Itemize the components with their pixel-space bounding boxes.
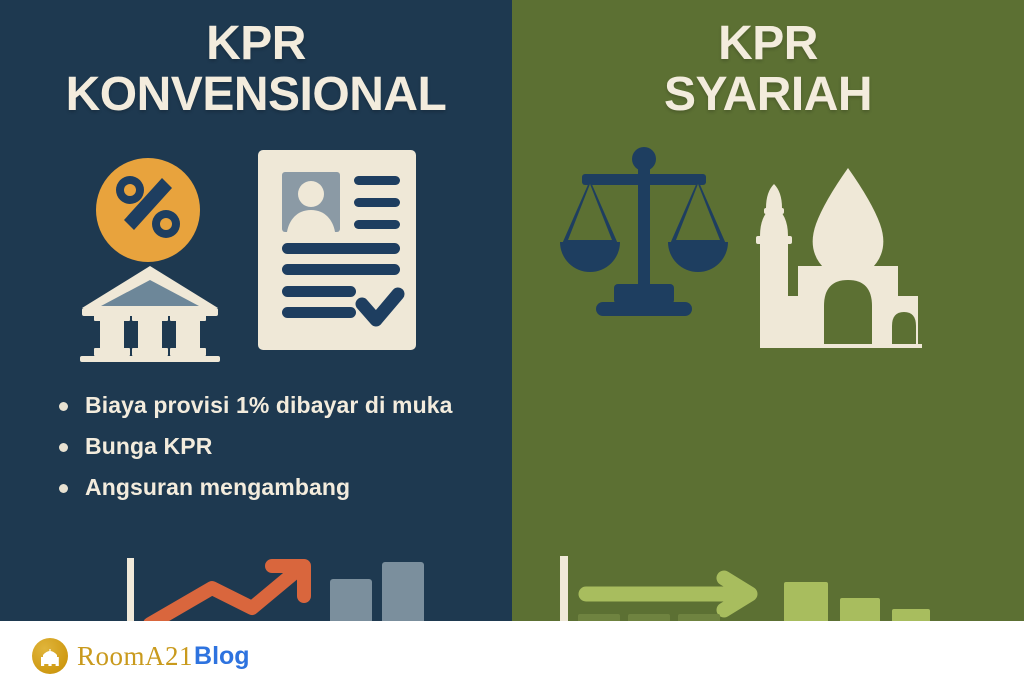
left-bullet-list: Biaya provisi 1% dibayar di muka Bunga K… xyxy=(52,392,474,515)
mosque-icon xyxy=(742,140,922,348)
left-growth-chart xyxy=(0,546,512,621)
left-title-line-1: KPR xyxy=(0,20,512,67)
bullet-dot-icon xyxy=(59,443,68,452)
bullet-dot-icon xyxy=(59,484,68,493)
percent-badge-icon xyxy=(96,158,200,262)
panel-kpr-syariah: KPR SYARIAH xyxy=(512,0,1024,621)
list-item-label: Biaya provisi 1% dibayar di muka xyxy=(85,392,453,418)
document-profile-icon xyxy=(258,150,416,350)
left-title-line-2: KONVENSIONAL xyxy=(0,71,512,118)
list-item: Biaya provisi 1% dibayar di muka xyxy=(52,392,474,419)
left-panel-title: KPR KONVENSIONAL xyxy=(0,20,512,118)
bank-icon xyxy=(80,264,220,362)
scales-of-justice-icon xyxy=(556,144,732,342)
right-title-line-1: KPR xyxy=(512,20,1024,67)
list-item-label: Bunga KPR xyxy=(85,433,212,459)
list-item: Bunga KPR xyxy=(52,433,474,460)
left-chart-decoration xyxy=(0,546,512,621)
panel-kpr-konvensional: KPR KONVENSIONAL xyxy=(0,0,512,621)
rooma21-building-mark-icon xyxy=(32,638,68,674)
right-title-line-2: SYARIAH xyxy=(512,71,1024,118)
list-item: Angsuran mengambang xyxy=(52,474,474,501)
logo-brand-secondary: Blog xyxy=(194,644,250,669)
list-item-label: Angsuran mengambang xyxy=(85,474,350,500)
left-icons-row xyxy=(0,136,512,361)
right-stable-chart xyxy=(512,546,1024,621)
right-icons-row xyxy=(512,136,1024,361)
footer-bar: RoomA21 Blog xyxy=(0,621,1024,691)
logo-brand-primary: RoomA21 xyxy=(77,643,193,670)
right-panel-title: KPR SYARIAH xyxy=(512,20,1024,118)
site-logo[interactable]: RoomA21 Blog xyxy=(32,638,250,674)
bullet-dot-icon xyxy=(59,402,68,411)
infographic-canvas: KPR KONVENSIONAL xyxy=(0,0,1024,691)
right-chart-decoration xyxy=(512,546,1024,621)
